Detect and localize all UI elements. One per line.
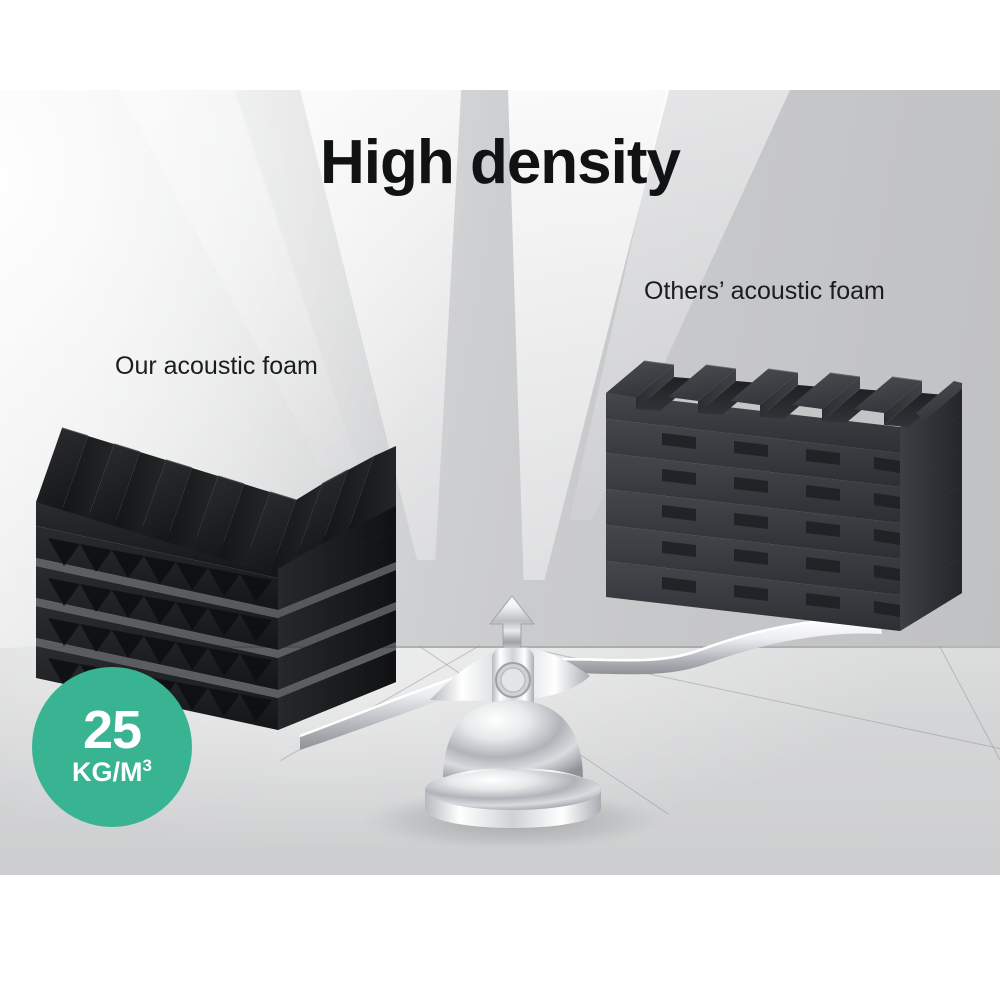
density-unit: KG/M3 — [72, 757, 152, 788]
product-infographic: High density Our acoustic foam Others’ a… — [0, 0, 1000, 1000]
page-title: High density — [0, 132, 1000, 194]
caption-our-foam: Our acoustic foam — [115, 352, 318, 381]
density-value: 25 — [83, 706, 141, 756]
foam-stack-others — [600, 345, 968, 645]
density-unit-exponent: 3 — [143, 756, 152, 775]
caption-others-foam: Others’ acoustic foam — [644, 277, 885, 306]
density-unit-text: KG/M — [72, 757, 143, 787]
density-badge: 25 KG/M3 — [32, 667, 192, 827]
